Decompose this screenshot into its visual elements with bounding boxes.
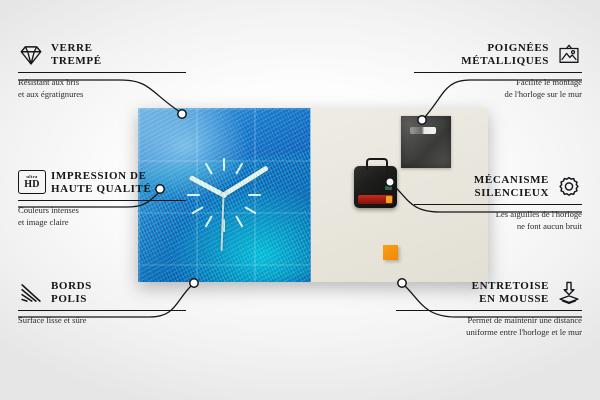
- clock-tick: [204, 162, 243, 227]
- foam-spacer-icon: [556, 280, 582, 306]
- clock-mechanism-box: [354, 166, 397, 208]
- callout-subtitle: Résistant aux bris et aux égratignures: [18, 77, 186, 100]
- callout-header: MÉCANISME SILENCIEUX: [414, 174, 582, 201]
- clock-tick: [191, 176, 256, 215]
- clock-tick: [191, 176, 256, 215]
- callout-subtitle: Permet de maintenir une distance uniform…: [396, 315, 582, 338]
- clock-tick: [191, 176, 256, 215]
- callout-divider: [396, 310, 582, 311]
- clock-tick: [223, 158, 225, 232]
- clock-tick: [223, 158, 225, 232]
- clock-tick: [187, 194, 261, 196]
- clock-tick: [204, 162, 243, 227]
- picture-hanger-icon: [556, 42, 582, 68]
- mechanism-port: [385, 186, 392, 190]
- clock-minute-hand: [222, 165, 269, 197]
- callout-title: MÉCANISME SILENCIEUX: [474, 174, 549, 201]
- callout-mecanisme-silencieux[interactable]: MÉCANISME SILENCIEUX Les aiguilles de l'…: [414, 174, 582, 232]
- diamond-icon: [18, 42, 44, 68]
- infographic-canvas: VERRE TREMPÉ Résistant aux bris et aux é…: [0, 0, 600, 400]
- clock-tick: [204, 162, 243, 227]
- callout-poignees-metalliques[interactable]: POIGNÉES MÉTALLIQUES Facilite le montage…: [414, 42, 582, 100]
- mechanism-hanger-loop: [366, 158, 388, 170]
- callout-title: ENTRETOISE EN MOUSSE: [472, 280, 549, 307]
- callout-impression-hd[interactable]: ultra HD IMPRESSION DE HAUTE QUALITÉ Cou…: [18, 170, 186, 228]
- callout-bords-polis[interactable]: BORDS POLIS Surface lisse et sûre: [18, 280, 186, 327]
- callout-header: ENTRETOISE EN MOUSSE: [396, 280, 582, 307]
- hanger-slot: [410, 127, 436, 134]
- foam-spacer-pad: [383, 245, 398, 260]
- callout-verre-trempe[interactable]: VERRE TREMPÉ Résistant aux bris et aux é…: [18, 42, 186, 100]
- callout-divider: [18, 200, 186, 201]
- clock-center-cap: [221, 192, 227, 198]
- callout-header: POIGNÉES MÉTALLIQUES: [414, 42, 582, 69]
- clock-second-hand: [221, 195, 224, 251]
- callout-title: POIGNÉES MÉTALLIQUES: [461, 42, 549, 69]
- callout-header: BORDS POLIS: [18, 280, 186, 307]
- clock-tick: [187, 194, 261, 196]
- clock-hour-hand: [189, 175, 225, 197]
- callout-subtitle: Facilite le montage de l'horloge sur le …: [414, 77, 582, 100]
- clock-tick: [204, 162, 243, 227]
- callout-header: ultra HD IMPRESSION DE HAUTE QUALITÉ: [18, 170, 186, 197]
- callout-subtitle: Les aiguilles de l'horloge ne font aucun…: [414, 209, 582, 232]
- callout-title: BORDS POLIS: [51, 280, 92, 307]
- metal-hanger-plate: [401, 116, 451, 168]
- callout-divider: [18, 310, 186, 311]
- callout-entretoise-mousse[interactable]: ENTRETOISE EN MOUSSE Permet de maintenir…: [396, 280, 582, 338]
- mechanism-battery: [358, 195, 393, 204]
- callout-divider: [18, 72, 186, 73]
- polished-edge-icon: [18, 280, 44, 306]
- callout-title: IMPRESSION DE HAUTE QUALITÉ: [51, 170, 151, 197]
- callout-divider: [414, 204, 582, 205]
- clock-tick: [191, 176, 256, 215]
- callout-subtitle: Couleurs intenses et image claire: [18, 205, 186, 228]
- ultra-hd-badge-icon: ultra HD: [18, 170, 44, 196]
- callout-subtitle: Surface lisse et sûre: [18, 315, 186, 327]
- callout-divider: [414, 72, 582, 73]
- callout-title: VERRE TREMPÉ: [51, 42, 102, 69]
- callout-header: VERRE TREMPÉ: [18, 42, 186, 69]
- gear-icon: [556, 174, 582, 200]
- hd-badge-large-text: HD: [24, 180, 39, 190]
